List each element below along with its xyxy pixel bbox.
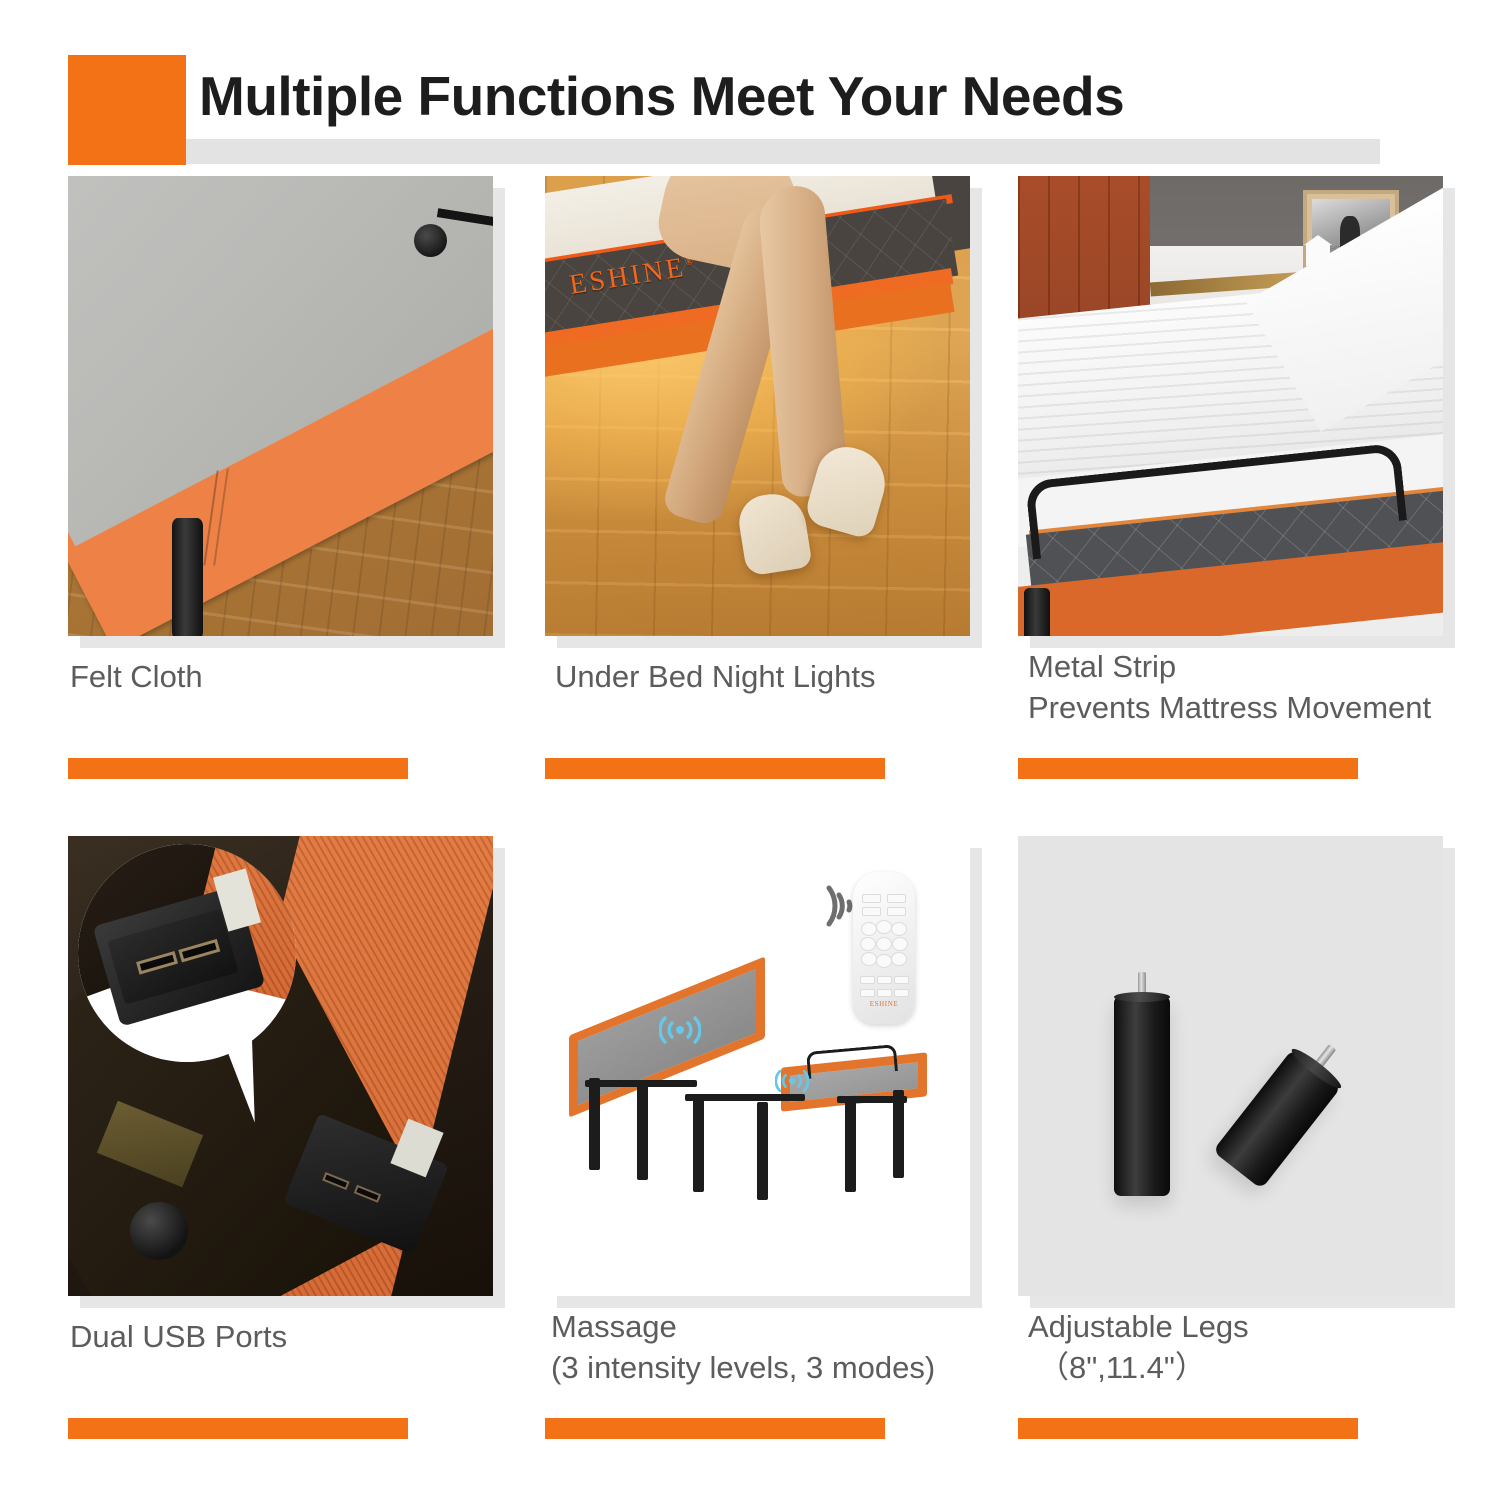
massage-wave-icon-head <box>659 1014 701 1046</box>
callout-usb-slot-2-icon <box>178 939 220 963</box>
photo-wrap <box>68 176 493 636</box>
remote-button-zerog <box>887 894 906 903</box>
caption-legs-line2: （8",11.4"） <box>1038 1347 1206 1388</box>
remote-button-down <box>876 954 892 968</box>
massage-adjustable-base-photo: ESHINE <box>545 836 970 1296</box>
bed-leg <box>1024 588 1050 636</box>
caption-massage-line1: Massage <box>551 1306 677 1347</box>
bed-leg <box>172 518 203 636</box>
callout-usb-face <box>107 909 239 1005</box>
remote-button-foot-up <box>891 922 907 936</box>
metal-retainer-bar-photo: HOME sweet HOME <box>1018 176 1443 636</box>
callout-usb-slot-1-icon <box>136 951 178 975</box>
leg-cap-tall <box>1114 992 1170 1002</box>
remote-button-light <box>860 989 875 997</box>
roller-wheel <box>130 1202 188 1260</box>
bed-base-corner-felt-photo <box>68 176 493 636</box>
remote-button-right <box>892 937 908 951</box>
feature-card-felt-cloth: Felt Cloth <box>68 176 493 776</box>
leg-cap-short <box>1288 1045 1344 1093</box>
dual-usb-ports-photo <box>68 836 493 1296</box>
massage-wave-icon-foot <box>775 1068 809 1094</box>
feature-card-night-lights: ESHINE® Under Bed Night Lights <box>545 176 970 776</box>
caption-metal-strip-line1: Metal Strip <box>1028 646 1176 687</box>
remote-button-massage-foot <box>894 976 909 984</box>
remote-button-center <box>876 937 892 951</box>
photo-wrap: HOME sweet HOME <box>1018 176 1443 636</box>
feature-grid: Felt Cloth ESHINE® <box>0 0 1500 1500</box>
remote-button-massage-all <box>877 976 892 984</box>
frame-leg-6 <box>893 1090 904 1178</box>
remote-button-up <box>876 920 892 934</box>
frame-leg-5 <box>845 1100 856 1192</box>
photo-wrap <box>68 836 493 1296</box>
caption-underline <box>68 1418 408 1439</box>
remote-button-mode <box>877 989 892 997</box>
caption-massage-line2: (3 intensity levels, 3 modes) <box>551 1347 935 1388</box>
under-bed-night-lights-photo: ESHINE® <box>545 176 970 636</box>
callout-inner <box>78 844 296 1062</box>
caption-underline <box>545 758 885 779</box>
photo-wrap <box>1018 836 1443 1296</box>
remote-button-timer <box>894 989 909 997</box>
caption-metal-strip-line2: Prevents Mattress Movement <box>1028 687 1431 728</box>
caption-underline <box>1018 758 1358 779</box>
bed-leg-short <box>1213 1049 1342 1190</box>
frame-crossbar-right <box>837 1096 907 1103</box>
feature-card-adjustable-legs: Adjustable Legs （8",11.4"） <box>1018 836 1443 1436</box>
caption-underline <box>1018 1418 1358 1439</box>
photo-wrap: ESHINE <box>545 836 970 1296</box>
caption-felt-cloth: Felt Cloth <box>70 656 203 697</box>
caption-night-lights: Under Bed Night Lights <box>555 656 876 697</box>
feature-card-usb-ports: Dual USB Ports <box>68 836 493 1436</box>
remote-button-head-up <box>861 922 877 936</box>
remote-brand-logo: ESHINE <box>853 1000 915 1008</box>
caption-legs-line1: Adjustable Legs <box>1028 1306 1249 1347</box>
caption-underline <box>68 758 408 779</box>
frame-leg-1 <box>589 1078 600 1170</box>
usb-slot-2-icon <box>354 1185 381 1203</box>
frame-leg-2 <box>637 1084 648 1180</box>
feature-card-metal-strip: HOME sweet HOME Metal Strip Prevents Mat… <box>1018 176 1443 776</box>
remote-button-flat <box>862 894 881 903</box>
feature-card-massage: ESHINE <box>545 836 970 1436</box>
magnifier-callout <box>78 844 296 1062</box>
bed-leg-tall <box>1114 996 1170 1196</box>
frame-crossbar-mid <box>685 1094 805 1101</box>
remote-button-lounge <box>887 907 906 916</box>
remote-button-head-down <box>861 952 877 966</box>
usb-slot-1-icon <box>322 1172 349 1190</box>
remote-button-tv <box>862 907 881 916</box>
photo-wrap: ESHINE® <box>545 176 970 636</box>
caption-underline <box>545 1418 885 1439</box>
frame-leg-4 <box>757 1102 768 1200</box>
caption-usb-ports: Dual USB Ports <box>70 1316 287 1357</box>
frame-leg-3 <box>693 1096 704 1192</box>
frame-crossbar-left <box>585 1080 697 1087</box>
wireless-remote: ESHINE <box>853 872 915 1024</box>
remote-button-massage-head <box>860 976 875 984</box>
remote-button-foot-down <box>891 952 907 966</box>
adjustable-legs-photo <box>1018 836 1443 1296</box>
remote-button-left <box>860 937 876 951</box>
